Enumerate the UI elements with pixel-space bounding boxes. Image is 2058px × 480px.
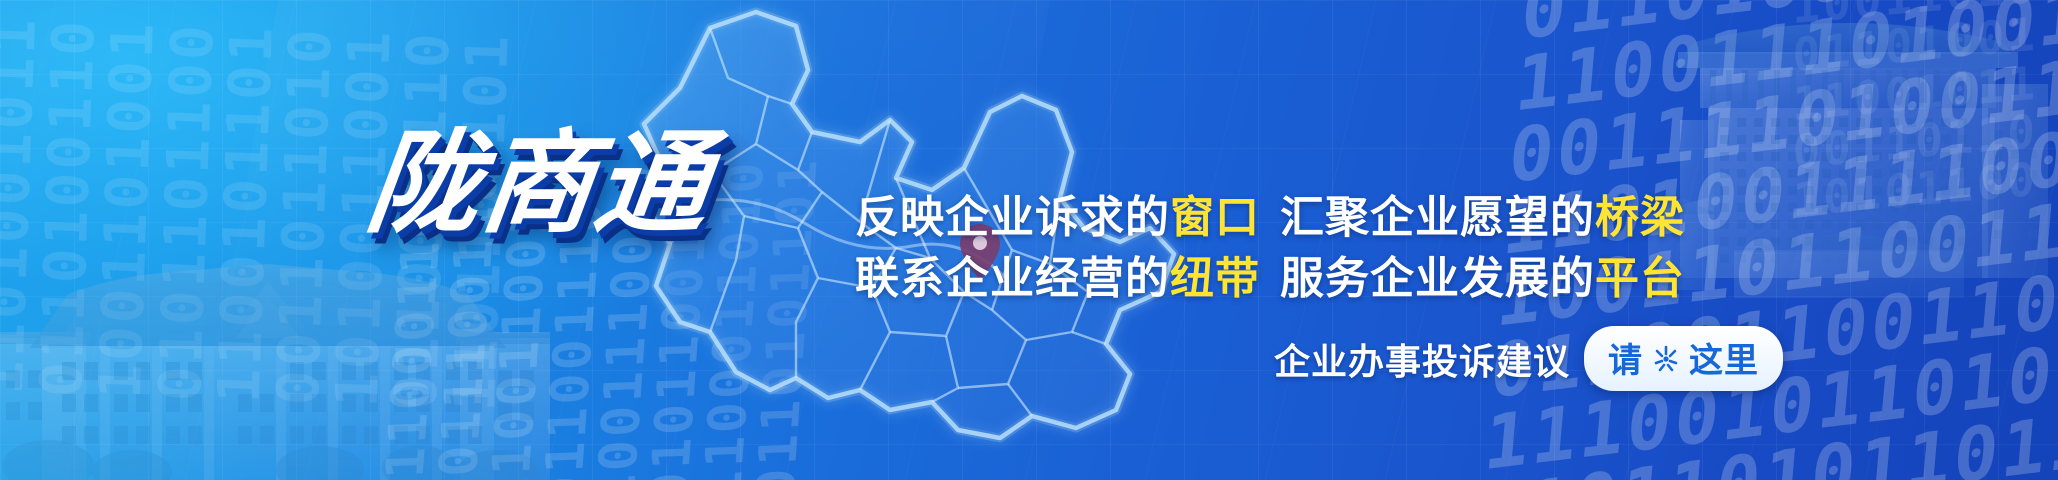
slogan-line2-part2: 服务企业发展的	[1280, 253, 1595, 304]
slogan-line2-highlight2: 平台	[1595, 253, 1685, 304]
banner-root: 0011010011 1101001011 0110100110 1001101…	[0, 0, 2058, 480]
slogan-line-1: 反映企业诉求的窗口汇聚企业愿望的桥梁	[855, 188, 1635, 249]
cta-label: 企业办事投诉建议	[1274, 333, 1570, 385]
slogan-line1-part1: 反映企业诉求的	[855, 192, 1170, 243]
cta-block: 企业办事投诉建议 请 这里	[1274, 326, 1783, 391]
slogan-line-2: 联系企业经营的纽带服务企业发展的平台	[855, 249, 1635, 310]
cta-pill-suffix: 这里	[1689, 333, 1759, 382]
slogan-line2-highlight1: 纽带	[1170, 253, 1260, 304]
click-here-button[interactable]: 请 这里	[1584, 326, 1783, 391]
slogan-line1-highlight1: 窗口	[1170, 192, 1260, 243]
cta-pill-prefix: 请	[1608, 333, 1643, 382]
page-title: 陇商通	[361, 128, 717, 240]
slogan-block: 反映企业诉求的窗口汇聚企业愿望的桥梁 联系企业经营的纽带服务企业发展的平台	[855, 188, 1635, 309]
slogan-line1-part2: 汇聚企业愿望的	[1280, 192, 1595, 243]
slogan-line1-highlight2: 桥梁	[1595, 192, 1685, 243]
slogan-line2-part1: 联系企业经营的	[855, 253, 1170, 304]
click-sparkle-icon	[1649, 341, 1683, 375]
